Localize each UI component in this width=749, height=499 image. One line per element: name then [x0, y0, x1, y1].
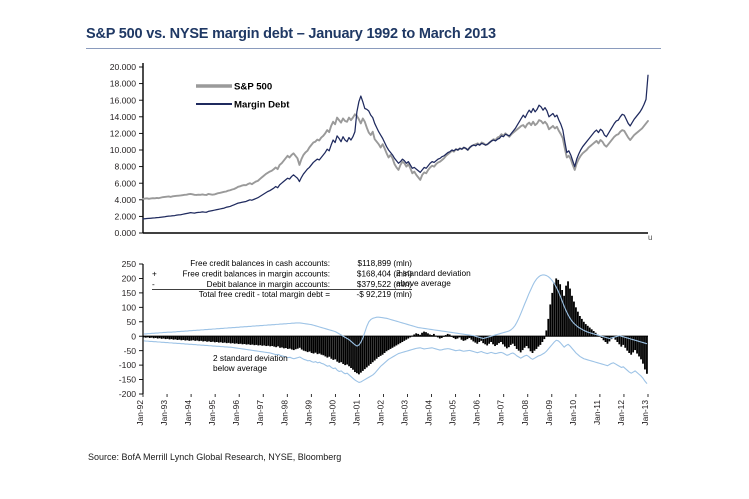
bar	[208, 336, 210, 341]
bar	[246, 336, 248, 344]
bar	[528, 336, 530, 348]
bar	[490, 336, 492, 342]
x-tick-label: Jan-10	[568, 400, 578, 426]
bar	[309, 336, 311, 351]
bar	[506, 336, 508, 348]
bar	[336, 336, 338, 361]
x-tick-label: Jan-13	[640, 400, 650, 426]
x-tick-label: Jan-11	[592, 400, 602, 425]
bar	[425, 332, 427, 336]
bar	[222, 336, 224, 343]
bar	[399, 336, 401, 343]
bar	[618, 336, 620, 344]
bar	[589, 328, 591, 337]
margin-debt-line	[143, 75, 648, 219]
bar	[526, 336, 528, 346]
bar	[248, 336, 250, 344]
x-tick-label: Jan-93	[159, 400, 169, 426]
bar	[474, 336, 476, 342]
bar	[638, 336, 640, 356]
top-chart-svg: 0.0002.0004.0006.0008.00010.00012.00014.…	[0, 55, 749, 250]
bar	[224, 336, 226, 342]
bar	[354, 336, 356, 372]
bar	[380, 336, 382, 356]
info-box: Free credit balances in cash accounts:$1…	[152, 259, 412, 299]
y-tick-label-bottom: 150	[122, 288, 137, 298]
bar	[238, 336, 240, 344]
bar	[324, 336, 326, 356]
bar	[362, 336, 364, 371]
x-tick-label: Jan-97	[255, 400, 265, 426]
bar	[275, 336, 277, 347]
y-tick-label-top: 10.000	[110, 145, 137, 155]
axis-artifact-mark: u	[648, 233, 652, 242]
bar	[192, 336, 194, 340]
x-tick-label: Jan-03	[400, 400, 410, 426]
bar	[297, 336, 299, 348]
bar	[269, 336, 271, 346]
bar	[311, 336, 313, 353]
bar	[216, 336, 218, 342]
bar	[257, 336, 259, 345]
bar	[301, 336, 303, 349]
y-tick-label-top: 18.000	[110, 79, 137, 89]
bar	[392, 336, 394, 348]
bar	[356, 336, 358, 373]
bar	[220, 336, 222, 342]
sp500-margin-debt-chart: 0.0002.0004.0006.0008.00010.00012.00014.…	[0, 55, 749, 250]
bar	[261, 336, 263, 346]
bar	[390, 336, 392, 349]
bar	[571, 296, 573, 336]
bar	[396, 336, 398, 345]
bar	[188, 336, 190, 341]
bar	[401, 336, 403, 342]
bar	[518, 336, 520, 350]
bar	[180, 336, 182, 340]
bar	[620, 336, 622, 346]
y-tick-label-bottom: 100	[122, 302, 137, 312]
bar	[587, 326, 589, 336]
bar	[366, 336, 368, 367]
x-tick-label: Jan-12	[616, 400, 626, 426]
bar	[403, 336, 405, 341]
bar	[271, 336, 273, 346]
bar	[202, 336, 204, 341]
info-box-label: Free credit balances in margin accounts:	[183, 269, 330, 278]
bar	[293, 336, 295, 350]
bar	[549, 304, 551, 336]
y-tick-label-top: 20.000	[110, 62, 137, 72]
bar	[352, 336, 354, 370]
bar	[210, 336, 212, 342]
x-tick-label: Jan-96	[231, 400, 241, 426]
x-tick-label: Jan-02	[375, 400, 385, 426]
bar	[259, 336, 261, 345]
y-tick-label-bottom: -100	[119, 360, 136, 370]
bar	[332, 336, 334, 360]
bar	[500, 336, 502, 342]
y-tick-label-bottom: 250	[122, 259, 137, 269]
y-tick-label-bottom: 0	[131, 331, 136, 341]
annotation-below-average: 2 standard deviationbelow average	[213, 353, 288, 373]
y-tick-label-bottom: -200	[119, 389, 136, 399]
bar	[277, 336, 279, 346]
bar	[334, 336, 336, 359]
bottom-chart-svg: -200-150-100-50050100150200250Jan-92Jan-…	[0, 258, 749, 438]
bar	[616, 336, 618, 342]
annotation-below-line2: below average	[213, 363, 267, 373]
bar	[634, 336, 636, 350]
bar	[536, 336, 538, 349]
bar	[315, 336, 317, 352]
y-tick-label-top: 16.000	[110, 95, 137, 105]
title-divider	[86, 48, 661, 49]
bar	[265, 336, 267, 346]
x-tick-label: Jan-01	[351, 400, 361, 426]
bar	[463, 336, 465, 341]
annotation-above-average: 2 standard deviationabove average	[396, 268, 471, 288]
bar	[646, 336, 648, 374]
y-tick-label-top: 12.000	[110, 129, 137, 139]
y-tick-label-bottom: -50	[124, 346, 137, 356]
bar	[394, 336, 396, 346]
bar	[240, 336, 242, 344]
chart-page: S&P 500 vs. NYSE margin debt – January 1…	[0, 0, 749, 499]
x-tick-label: Jan-92	[135, 400, 145, 426]
bar	[186, 336, 188, 340]
bar	[364, 336, 366, 369]
bar	[498, 336, 500, 343]
bar	[190, 336, 192, 340]
bar	[218, 336, 220, 342]
bar	[289, 336, 291, 348]
bar	[465, 336, 467, 340]
info-box-label: Free credit balances in cash accounts:	[190, 259, 330, 268]
bar	[303, 336, 305, 350]
bar	[632, 336, 634, 352]
bar	[581, 319, 583, 336]
bar	[378, 336, 380, 357]
bar	[330, 336, 332, 359]
annotation-above-line2: above average	[396, 278, 451, 288]
bar	[642, 336, 644, 363]
bar	[569, 289, 571, 337]
bar	[504, 336, 506, 346]
bar	[563, 296, 565, 336]
bar	[267, 336, 269, 346]
bar	[305, 336, 307, 351]
bar	[228, 336, 230, 343]
bar	[516, 336, 518, 349]
bar	[510, 336, 512, 345]
bar	[236, 336, 238, 343]
bar	[585, 324, 587, 336]
bar	[522, 336, 524, 350]
bar	[561, 290, 563, 336]
bar	[200, 336, 202, 341]
bar	[340, 336, 342, 362]
legend-label-margin-debt: Margin Debt	[234, 100, 290, 111]
bar	[545, 330, 547, 336]
bar	[577, 312, 579, 337]
bar	[502, 336, 504, 344]
bar	[250, 336, 252, 345]
bar	[423, 332, 425, 337]
sp500-line	[143, 114, 648, 199]
x-tick-label: Jan-00	[327, 400, 337, 426]
bar	[184, 336, 186, 340]
bar	[253, 336, 255, 345]
bar	[370, 336, 372, 364]
bar	[538, 336, 540, 346]
y-tick-label-top: 8.000	[114, 162, 136, 172]
bar	[520, 336, 522, 352]
source-note: Source: BofA Merrill Lynch Global Resear…	[88, 452, 341, 462]
bar	[553, 283, 555, 336]
y-tick-label-top: 14.000	[110, 112, 137, 122]
bar	[234, 336, 236, 344]
x-tick-label: Jan-05	[448, 400, 458, 426]
bar	[196, 336, 198, 340]
bar	[636, 336, 638, 353]
bar	[540, 336, 542, 345]
bar	[273, 336, 275, 346]
bar	[376, 336, 378, 359]
bar	[214, 336, 216, 342]
bar	[279, 336, 281, 348]
bar	[532, 336, 534, 353]
bar	[230, 336, 232, 343]
bar	[384, 336, 386, 353]
y-tick-label-bottom: 50	[126, 317, 136, 327]
bar	[291, 336, 293, 349]
bar	[344, 336, 346, 365]
bar	[212, 336, 214, 341]
page-title: S&P 500 vs. NYSE margin debt – January 1…	[86, 26, 496, 42]
bar	[283, 336, 285, 348]
bar	[551, 293, 553, 336]
bar	[198, 336, 200, 341]
bar	[374, 336, 376, 360]
bar	[358, 336, 360, 374]
bar	[575, 307, 577, 336]
annotation-below-line1: 2 standard deviation	[213, 353, 288, 363]
bar	[287, 336, 289, 349]
bar	[177, 336, 179, 340]
x-tick-label: Jan-06	[472, 400, 482, 426]
bar	[317, 336, 319, 354]
bar	[242, 336, 244, 344]
bar	[321, 336, 323, 354]
x-tick-label: Jan-99	[303, 400, 313, 426]
bar	[255, 336, 257, 345]
bar	[559, 284, 561, 336]
x-tick-label: Jan-95	[207, 400, 217, 426]
bar	[541, 336, 543, 342]
bar	[346, 336, 348, 364]
x-tick-label: Jan-09	[544, 400, 554, 426]
bar	[567, 281, 569, 336]
bar	[295, 336, 297, 349]
bar	[508, 336, 510, 347]
free-credit-chart: -200-150-100-50050100150200250Jan-92Jan-…	[0, 258, 749, 438]
bar	[514, 336, 516, 346]
bar	[372, 336, 374, 362]
x-tick-label: Jan-04	[424, 400, 434, 426]
bar	[496, 336, 498, 345]
bar	[644, 336, 646, 369]
bar	[382, 336, 384, 354]
bar	[472, 336, 474, 341]
bar	[328, 336, 330, 357]
bar	[323, 336, 325, 355]
y-tick-label-bottom: -150	[119, 375, 136, 385]
bar	[368, 336, 370, 365]
info-box-operator: +	[152, 269, 157, 278]
info-box-label: Debit balance in margin accounts:	[207, 280, 330, 289]
bar	[313, 336, 315, 353]
bar	[342, 336, 344, 364]
bar	[226, 336, 228, 343]
bar	[204, 336, 206, 341]
x-tick-label: Jan-98	[279, 400, 289, 426]
bar	[307, 336, 309, 352]
bar	[338, 336, 340, 363]
y-tick-label-bottom: 200	[122, 274, 137, 284]
bar	[579, 316, 581, 336]
bar	[557, 280, 559, 336]
bar	[494, 336, 496, 346]
info-box-label: Total free credit - total margin debt =	[199, 290, 331, 299]
bar	[482, 336, 484, 343]
bar	[182, 336, 184, 340]
bar	[252, 336, 254, 344]
bar	[388, 336, 390, 350]
info-box-value: -$ 92,219 (mln)	[356, 290, 412, 299]
y-tick-label-top: 2.000	[114, 212, 136, 222]
x-tick-label: Jan-94	[183, 400, 193, 426]
bar	[263, 336, 265, 345]
y-tick-label-top: 0.000	[114, 228, 136, 238]
bar	[573, 302, 575, 337]
bar	[232, 336, 234, 343]
bar	[194, 336, 196, 341]
bar	[530, 336, 532, 351]
bar	[640, 336, 642, 359]
y-tick-label-top: 4.000	[114, 195, 136, 205]
annotation-above-line1: 2 standard deviation	[396, 268, 471, 278]
bar	[534, 336, 536, 350]
info-box-value: $118,899 (mln)	[358, 259, 413, 268]
bar	[244, 336, 246, 344]
bar	[524, 336, 526, 348]
bar	[285, 336, 287, 348]
bar	[583, 322, 585, 336]
x-tick-label: Jan-08	[520, 400, 530, 426]
bar	[547, 319, 549, 336]
info-box-operator: -	[152, 280, 155, 289]
legend-label-sp500: S&P 500	[234, 82, 272, 93]
bar	[299, 336, 301, 348]
bar	[326, 336, 328, 357]
bar	[386, 336, 388, 351]
bar	[397, 336, 399, 344]
bar	[281, 336, 283, 347]
bar	[206, 336, 208, 341]
x-tick-label: Jan-07	[496, 400, 506, 426]
y-tick-label-top: 6.000	[114, 178, 136, 188]
bar	[319, 336, 321, 353]
bar	[492, 336, 494, 344]
bar	[512, 336, 514, 344]
